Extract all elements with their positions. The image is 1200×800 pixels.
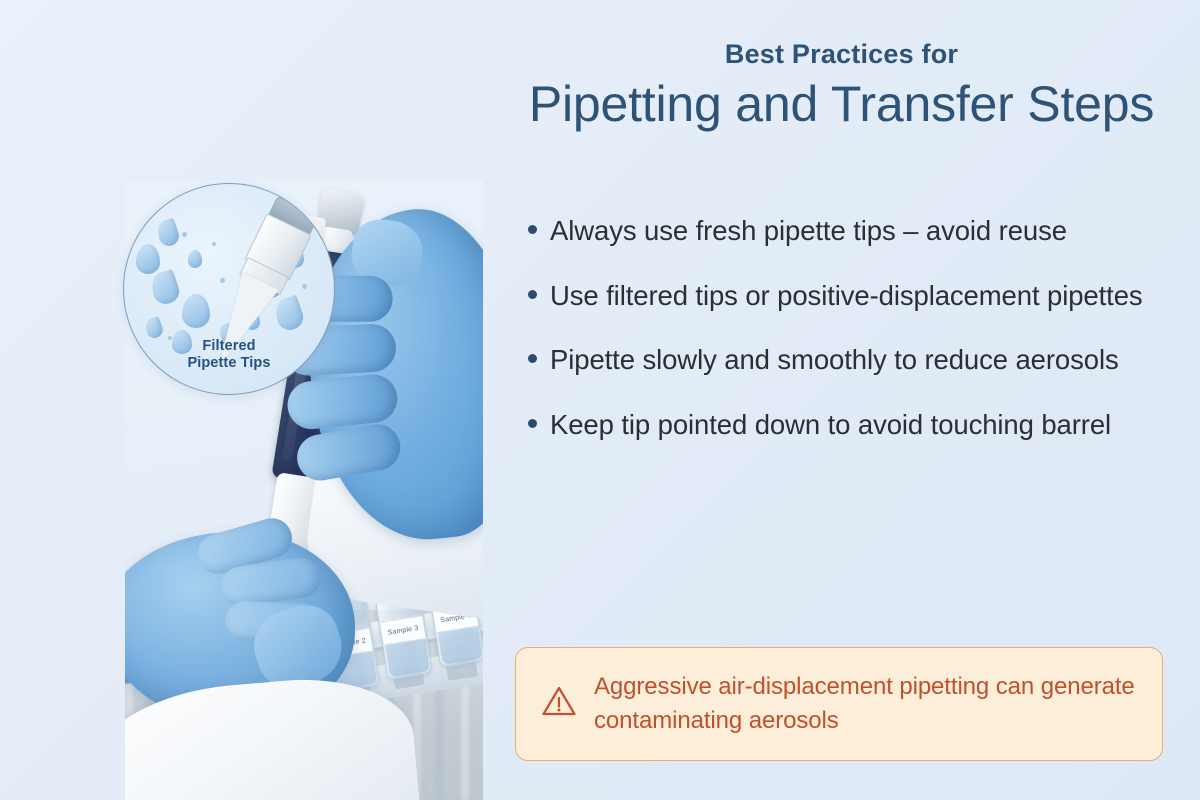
- warning-callout: Aggressive air-displacement pipetting ca…: [515, 647, 1163, 761]
- eyebrow-text: Best Practices for: [483, 40, 1200, 70]
- bullet-marker-icon: [528, 290, 537, 299]
- water-droplet-icon: [143, 316, 164, 340]
- droplet-speck: [302, 284, 307, 289]
- droplet-speck: [212, 242, 216, 246]
- warning-triangle-icon: [540, 684, 578, 723]
- page-title: Pipetting and Transfer Steps: [483, 78, 1200, 131]
- bullet-marker-icon: [528, 354, 537, 363]
- list-item-text: Always use fresh pipette tips – avoid re…: [550, 212, 1067, 251]
- bullet-marker-icon: [528, 225, 537, 234]
- list-item: Keep tip pointed down to avoid touching …: [528, 406, 1168, 445]
- water-droplet-icon: [136, 244, 160, 274]
- warning-text: Aggressive air-displacement pipetting ca…: [594, 670, 1136, 738]
- best-practices-list: Always use fresh pipette tips – avoid re…: [528, 212, 1168, 470]
- inset-caption-line2: Pipette Tips: [187, 355, 270, 371]
- water-droplet-icon: [188, 250, 202, 268]
- list-item: Pipette slowly and smoothly to reduce ae…: [528, 341, 1168, 380]
- title-block: Best Practices for Pipetting and Transfe…: [483, 40, 1200, 130]
- list-item-text: Use filtered tips or positive-displaceme…: [550, 277, 1143, 316]
- list-item: Always use fresh pipette tips – avoid re…: [528, 212, 1168, 251]
- water-droplet-icon: [154, 218, 181, 249]
- list-item-text: Pipette slowly and smoothly to reduce ae…: [550, 341, 1119, 380]
- list-item: Use filtered tips or positive-displaceme…: [528, 277, 1168, 316]
- droplet-speck: [182, 232, 187, 237]
- water-droplet-icon: [148, 269, 183, 307]
- infographic-canvas: Best Practices for Pipetting and Transfe…: [0, 0, 1200, 800]
- filtered-tip-inset: Filtered Pipette Tips: [123, 183, 335, 395]
- inset-caption: Filtered Pipette Tips: [124, 338, 334, 372]
- bullet-marker-icon: [528, 419, 537, 428]
- list-item-text: Keep tip pointed down to avoid touching …: [550, 406, 1111, 445]
- inset-caption-line1: Filtered: [202, 338, 255, 354]
